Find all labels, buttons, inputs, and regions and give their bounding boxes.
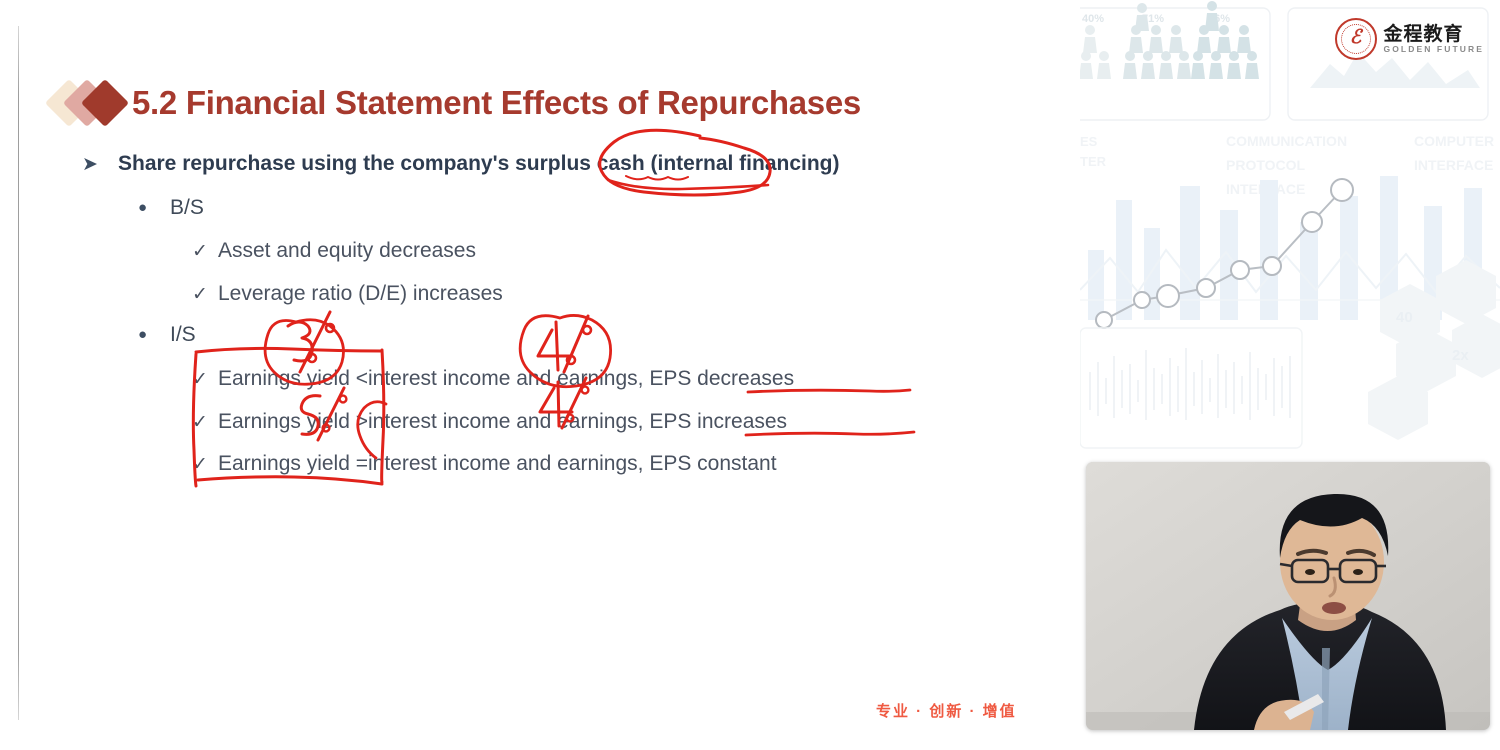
check-icon: ✓ [192, 283, 218, 306]
bullet-section-bs-label: B/S [170, 196, 204, 219]
slide-title-row: 5.2 Financial Statement Effects of Repur… [52, 78, 861, 128]
svg-text:PROTOCOL: PROTOCOL [1226, 157, 1306, 173]
check-icon: ✓ [192, 411, 218, 434]
right-panel: 40%71%96% [1080, 0, 1500, 750]
check-icon: ✓ [192, 240, 218, 263]
list-item-text: Earnings yield =interest income and earn… [218, 452, 777, 475]
list-item: ✓Asset and equity decreases [192, 239, 476, 263]
background-infographic: 40%71%96% [1080, 0, 1500, 470]
check-icon: ✓ [192, 453, 218, 476]
svg-text:COMMUNICATION: COMMUNICATION [1226, 133, 1347, 149]
logo-name-en: GOLDEN FUTURE [1384, 45, 1485, 54]
bullet-level1-share-repurchase: ➤Share repurchase using the company's su… [82, 152, 840, 176]
logo-seal-icon: ℰ [1335, 18, 1377, 60]
list-item-text: Asset and equity decreases [218, 239, 476, 262]
logo-name-cn: 金程教育 [1384, 25, 1485, 45]
svg-text:TER: TER [1080, 154, 1107, 169]
instructor-video-feed[interactable] [1086, 462, 1490, 730]
arrow-bullet-icon: ➤ [82, 153, 118, 176]
list-item-text: Earnings yield <interest income and earn… [218, 367, 794, 390]
logo-seal-glyph: ℰ [1337, 26, 1375, 49]
left-vertical-rule [18, 26, 19, 720]
list-item: ✓Leverage ratio (D/E) increases [192, 282, 503, 306]
dot-bullet-icon: ● [138, 199, 170, 216]
svg-text:40: 40 [1396, 309, 1413, 326]
slide-canvas: 5.2 Financial Statement Effects of Repur… [0, 0, 1080, 750]
svg-text:INTERFACE: INTERFACE [1414, 157, 1493, 173]
dot-bullet-icon: ● [138, 326, 170, 343]
list-item-text: Earnings yield >interest income and earn… [218, 410, 787, 433]
svg-text:ES: ES [1080, 134, 1098, 149]
page-title: 5.2 Financial Statement Effects of Repur… [132, 84, 861, 122]
svg-text:2x: 2x [1452, 347, 1469, 364]
svg-text:COMPUTER: COMPUTER [1414, 133, 1494, 149]
svg-text:40%: 40% [1082, 13, 1104, 25]
diamond-bullet-icon [52, 78, 128, 128]
brand-logo: ℰ 金程教育 GOLDEN FUTURE [1335, 18, 1485, 60]
bullet-section-bs: ●B/S [138, 196, 204, 220]
footer-tagline: 专业 · 创新 · 增值 [876, 700, 1017, 721]
check-icon: ✓ [192, 368, 218, 391]
bullet-level1-text: Share repurchase using the company's sur… [118, 152, 840, 175]
list-item-text: Leverage ratio (D/E) increases [218, 282, 503, 305]
bullet-section-is-label: I/S [170, 323, 196, 346]
list-item: ✓Earnings yield >interest income and ear… [192, 410, 787, 434]
bullet-section-is: ●I/S [138, 323, 196, 347]
list-item: ✓Earnings yield =interest income and ear… [192, 452, 777, 476]
list-item: ✓Earnings yield <interest income and ear… [192, 367, 794, 391]
